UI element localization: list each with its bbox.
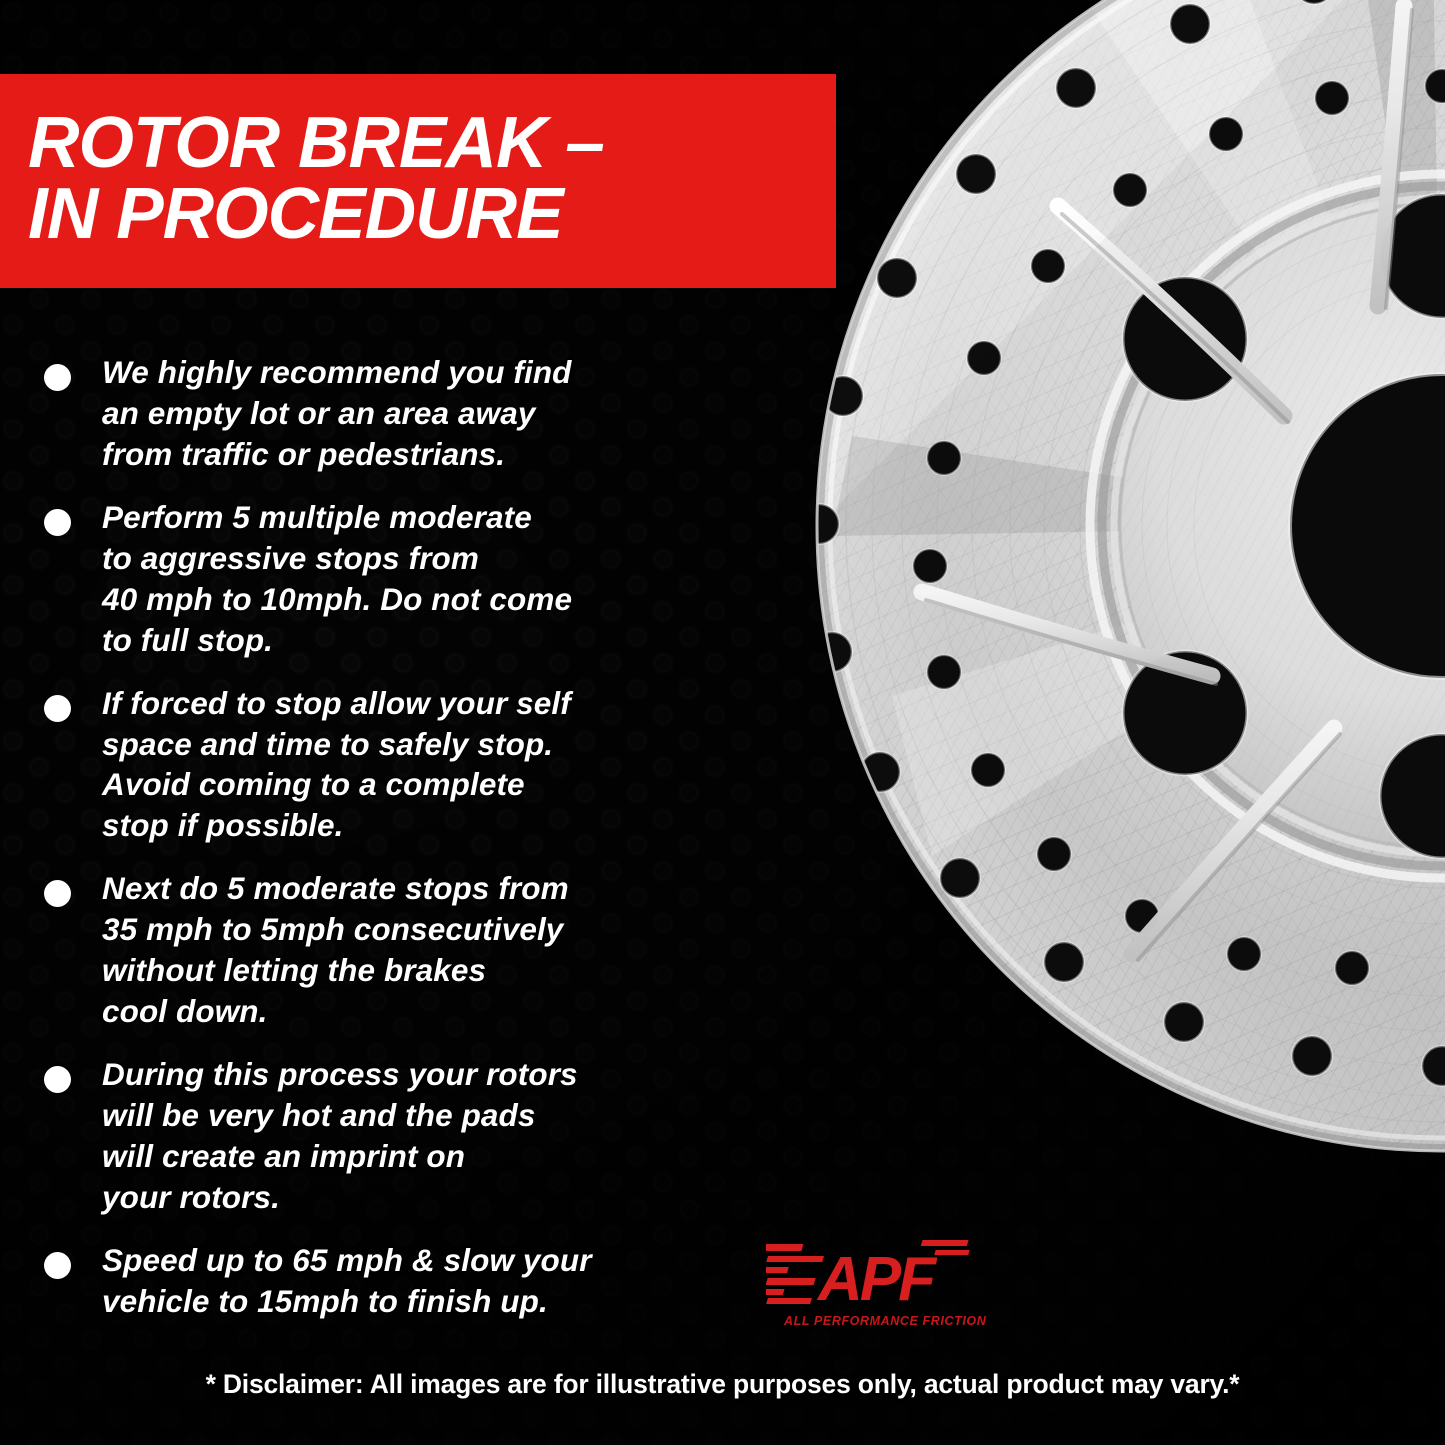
list-item-text: Speed up to 65 mph & slow your vehicle t… xyxy=(102,1240,592,1322)
bullet-dot-icon xyxy=(44,1252,71,1279)
title-banner: ROTOR BREAK – IN PROCEDURE xyxy=(0,74,836,288)
bullet-dot-icon xyxy=(44,364,71,391)
list-item: If forced to stop allow your self space … xyxy=(44,683,804,847)
bullet-dot-icon xyxy=(44,695,71,722)
list-item-text: Perform 5 multiple moderate to aggressiv… xyxy=(102,497,572,661)
apf-tagline: ALL PERFORMANCE FRICTION xyxy=(783,1314,987,1328)
list-item-text: If forced to stop allow your self space … xyxy=(102,683,571,847)
list-item: During this process your rotors will be … xyxy=(44,1054,804,1218)
list-item-text: We highly recommend you find an empty lo… xyxy=(102,352,572,475)
apf-logo: APF ALL PERFORMANCE FRICTION xyxy=(766,1228,996,1336)
bullet-dot-icon xyxy=(44,509,71,536)
title-line-1: ROTOR BREAK – xyxy=(28,108,828,179)
bullet-dot-icon xyxy=(44,880,71,907)
list-item: Next do 5 moderate stops from 35 mph to … xyxy=(44,868,804,1032)
list-item: Perform 5 multiple moderate to aggressiv… xyxy=(44,497,804,661)
list-item-text: Next do 5 moderate stops from 35 mph to … xyxy=(102,868,569,1032)
poster-root: ROTOR BREAK – IN PROCEDURE We highly rec… xyxy=(0,0,1445,1445)
list-item-text: During this process your rotors will be … xyxy=(102,1054,578,1218)
apf-wordmark: APF xyxy=(816,1245,938,1314)
procedure-steps-list: We highly recommend you find an empty lo… xyxy=(44,352,804,1344)
list-item: We highly recommend you find an empty lo… xyxy=(44,352,804,475)
title-line-2: IN PROCEDURE xyxy=(28,179,828,250)
list-item: Speed up to 65 mph & slow your vehicle t… xyxy=(44,1240,804,1322)
bullet-dot-icon xyxy=(44,1066,71,1093)
disclaimer-text: * Disclaimer: All images are for illustr… xyxy=(0,1369,1445,1400)
